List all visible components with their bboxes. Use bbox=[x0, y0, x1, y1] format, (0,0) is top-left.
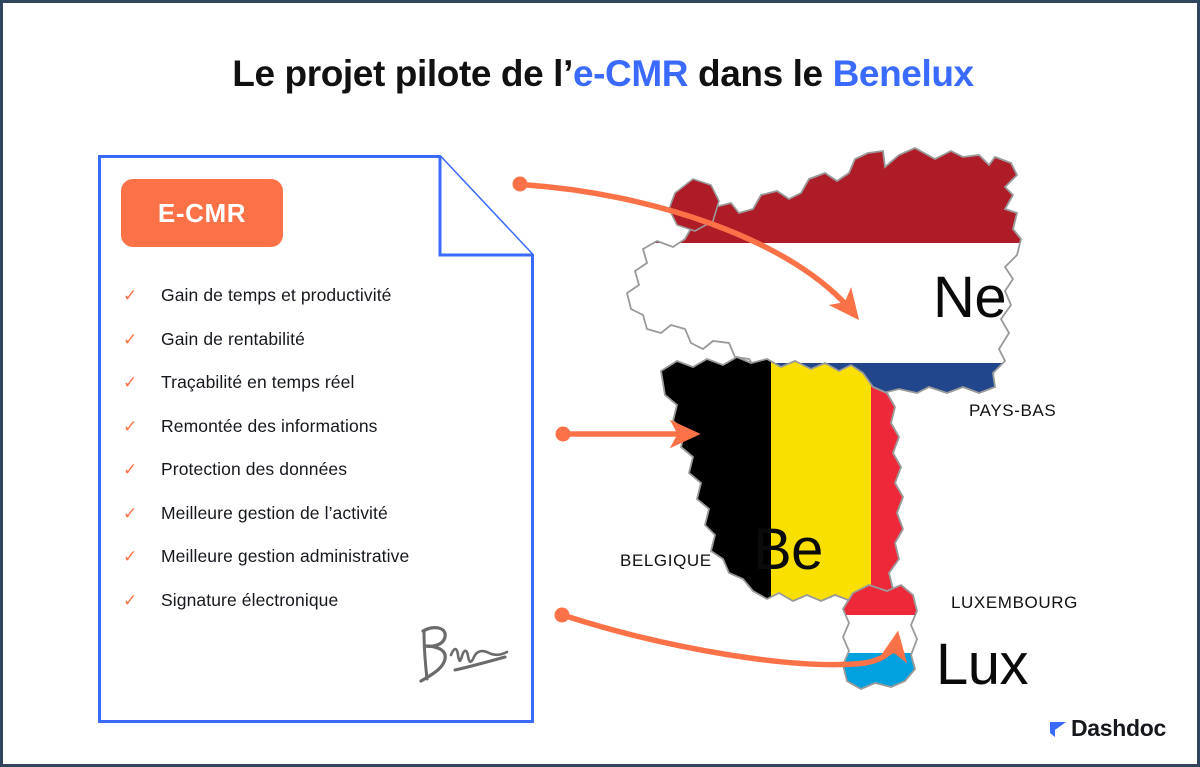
feature-list: ✓ Gain de temps et productivité ✓ Gain d… bbox=[123, 285, 523, 633]
check-icon: ✓ bbox=[123, 418, 161, 435]
title-accent-ecmr: e-CMR bbox=[573, 53, 688, 94]
infographic-canvas: Le projet pilote de l’e-CMR dans le Bene… bbox=[0, 0, 1200, 767]
list-item: ✓ Meilleure gestion administrative bbox=[123, 546, 523, 590]
list-item-label: Meilleure gestion de l’activité bbox=[161, 503, 388, 524]
list-item: ✓ Meilleure gestion de l’activité bbox=[123, 503, 523, 547]
signature-icon bbox=[411, 619, 521, 689]
ecmr-badge-label: E-CMR bbox=[158, 198, 246, 229]
country-abbr-belgium: Be bbox=[753, 521, 823, 579]
check-icon: ✓ bbox=[123, 548, 161, 565]
country-caption-belgium: BELGIQUE bbox=[620, 551, 712, 571]
country-caption-luxembourg: LUXEMBOURG bbox=[951, 593, 1078, 613]
check-icon: ✓ bbox=[123, 287, 161, 304]
title-accent-benelux: Benelux bbox=[833, 53, 974, 94]
nl-flag-white-band bbox=[543, 243, 1200, 363]
list-item-label: Signature électronique bbox=[161, 590, 338, 611]
list-item: ✓ Gain de temps et productivité bbox=[123, 285, 523, 329]
country-caption-netherlands: PAYS-BAS bbox=[969, 401, 1056, 421]
lu-flag-blue-band bbox=[833, 653, 933, 699]
country-abbr-netherlands: Ne bbox=[933, 269, 1006, 327]
check-icon: ✓ bbox=[123, 461, 161, 478]
check-icon: ✓ bbox=[123, 374, 161, 391]
check-icon: ✓ bbox=[123, 505, 161, 522]
list-item-label: Meilleure gestion administrative bbox=[161, 546, 409, 567]
list-item: ✓ Protection des données bbox=[123, 459, 523, 503]
list-item: ✓ Remontée des informations bbox=[123, 416, 523, 460]
list-item: ✓ Gain de rentabilité bbox=[123, 329, 523, 373]
check-icon: ✓ bbox=[123, 592, 161, 609]
list-item-label: Traçabilité en temps réel bbox=[161, 372, 354, 393]
dashdoc-mark-icon bbox=[1049, 719, 1067, 739]
country-abbr-luxembourg: Lux bbox=[936, 636, 1028, 694]
dashdoc-logo: Dashdoc bbox=[1049, 715, 1166, 742]
check-icon: ✓ bbox=[123, 331, 161, 348]
list-item-label: Remontée des informations bbox=[161, 416, 378, 437]
nl-flag-red-band bbox=[543, 143, 1200, 243]
title-part-2: dans le bbox=[688, 53, 832, 94]
list-item-label: Gain de temps et productivité bbox=[161, 285, 392, 306]
page-title: Le projet pilote de l’e-CMR dans le Bene… bbox=[3, 53, 1200, 95]
benelux-map bbox=[543, 143, 1200, 713]
title-part-1: Le projet pilote de l’ bbox=[232, 53, 573, 94]
ecmr-badge: E-CMR bbox=[121, 179, 283, 247]
dashdoc-logo-text: Dashdoc bbox=[1071, 715, 1166, 742]
list-item-label: Protection des données bbox=[161, 459, 347, 480]
list-item: ✓ Traçabilité en temps réel bbox=[123, 372, 523, 416]
list-item-label: Gain de rentabilité bbox=[161, 329, 305, 350]
